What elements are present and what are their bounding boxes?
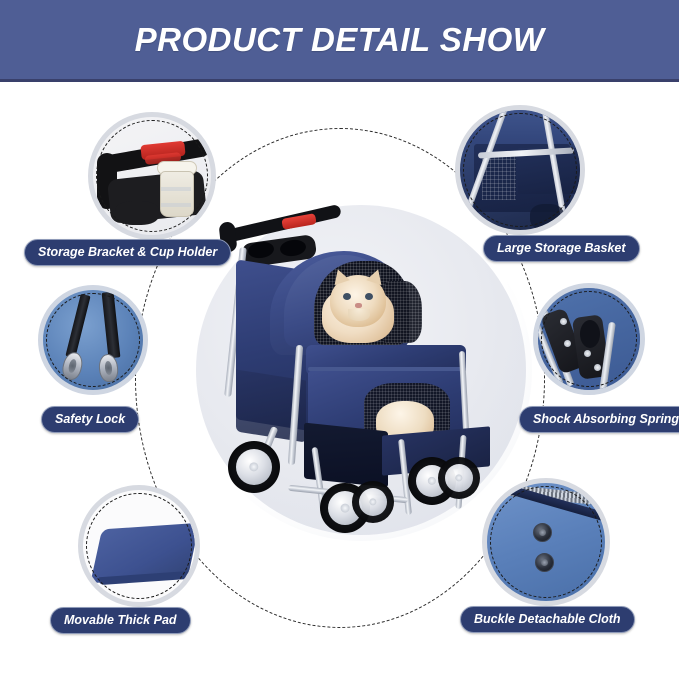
callout-safety-lock[interactable]: Safety Lock [38,285,148,395]
safety-lock-photo [38,285,148,395]
callout-label-buckle-detachable-cloth: Buckle Detachable Cloth [460,606,635,633]
shock-absorbing-spring-photo [533,283,645,395]
callout-shock-absorbing-spring[interactable]: Shock Absorbing Spring [533,283,645,395]
callout-label-large-storage-basket: Large Storage Basket [483,235,640,262]
callout-label-shock-absorbing-spring: Shock Absorbing Spring [519,406,679,433]
large-storage-basket-photo [455,105,585,235]
movable-thick-pad-photo [78,485,200,607]
buckle-detachable-cloth-photo [482,478,610,606]
callout-buckle-detachable-cloth[interactable]: Buckle Detachable Cloth [482,478,610,606]
callout-label-movable-thick-pad: Movable Thick Pad [50,607,191,634]
callout-label-storage-bracket-cup-holder: Storage Bracket & Cup Holder [24,239,231,266]
page-title: PRODUCT DETAIL SHOW [135,21,545,59]
callout-label-safety-lock: Safety Lock [41,406,139,433]
callout-large-storage-basket[interactable]: Large Storage Basket [455,105,585,235]
callout-storage-bracket-cup-holder[interactable]: Storage Bracket & Cup Holder [88,112,216,240]
infographic-page: PRODUCT DETAIL SHOW [0,0,679,679]
page-header-banner: PRODUCT DETAIL SHOW [0,0,679,82]
callout-movable-thick-pad[interactable]: Movable Thick Pad [78,485,200,607]
storage-bracket-cup-holder-photo [88,112,216,240]
